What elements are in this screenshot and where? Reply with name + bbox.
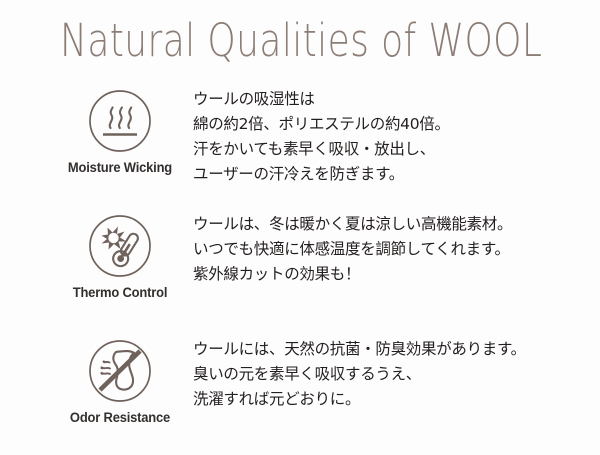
feature-label: Thermo Control [58,285,183,300]
feature-text-line: 汗をかいても素早く吸収・放出し、 [193,137,593,162]
feature-text-line: 洗濯すれば元どおりに。 [193,387,593,412]
feature-text-line: 綿の約2倍、ポリエステルの約40倍。 [193,112,593,137]
feature-block-moisture-wicking: Moisture Wicking ウールの吸湿性は 綿の約2倍、ポリエステルの約… [0,85,600,205]
feature-text-line: いつでも快適に体感温度を調節してくれます。 [193,237,593,262]
feature-icon-column: Moisture Wicking [55,85,185,175]
sun-thermometer-icon [87,213,153,279]
feature-text-column: ウールには、天然の抗菌・防臭効果があります。 臭いの元を素早く吸収するうえ、 洗… [193,337,593,412]
feature-text-line: 臭いの元を素早く吸収するうえ、 [193,362,593,387]
feature-text-column: ウールの吸湿性は 綿の約2倍、ポリエステルの約40倍。 汗をかいても素早く吸収・… [193,87,593,187]
feature-block-thermo-control: Thermo Control ウールは、冬は暖かく夏は涼しい高機能素材。 いつで… [0,210,600,330]
heat-waves-icon [87,88,153,154]
feature-icon-column: Thermo Control [55,210,185,300]
feature-label: Odor Resistance [58,410,183,425]
page-title: Natural Qualities of WOOL [60,13,540,69]
feature-icon-column: Odor Resistance [55,335,185,425]
feature-block-odor-resistance: Odor Resistance ウールには、天然の抗菌・防臭効果があります。 臭… [0,335,600,455]
feature-text-line: ウールは、冬は暖かく夏は涼しい高機能素材。 [193,212,593,237]
feature-text-line: ウールには、天然の抗菌・防臭効果があります。 [193,337,593,362]
feature-text-column: ウールは、冬は暖かく夏は涼しい高機能素材。 いつでも快適に体感温度を調節してくれ… [193,212,593,287]
feature-text-line: 紫外線カットの効果も！ [193,262,593,287]
feature-label: Moisture Wicking [58,160,183,175]
wool-qualities-infographic: Natural Qualities of WOOL Moisture Wicki… [0,0,600,450]
feature-text-line: ユーザーの汗冷えを防ぎます。 [193,162,593,187]
feature-text-line: ウールの吸湿性は [193,87,593,112]
no-odor-sock-icon [87,338,153,404]
